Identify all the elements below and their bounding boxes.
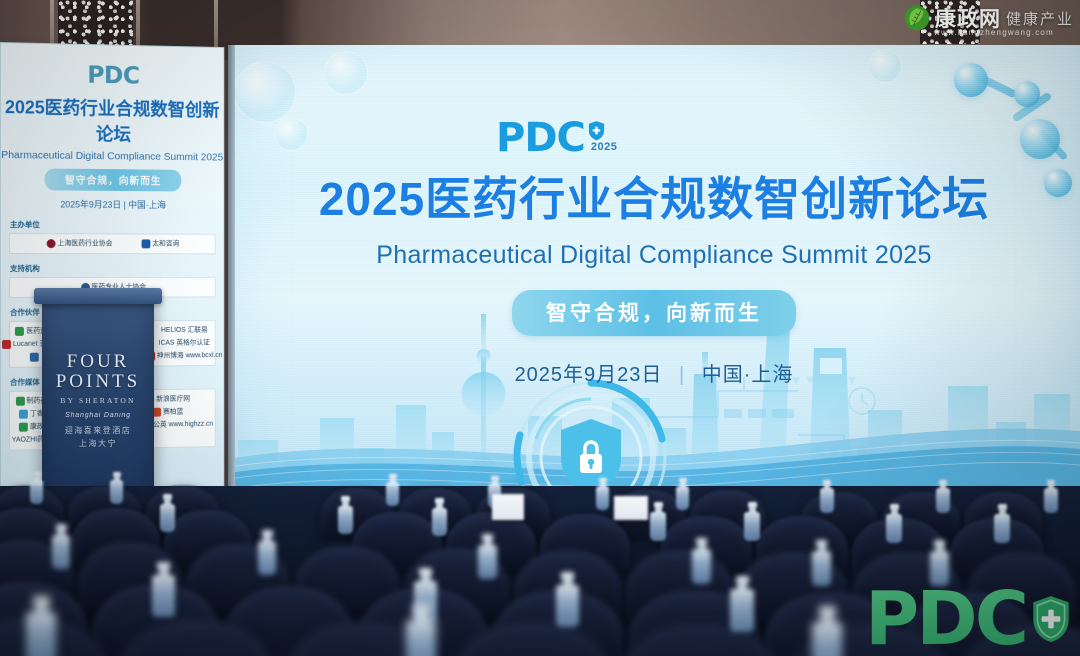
podium-brand-line1: FOUR <box>42 352 154 372</box>
bottle-body <box>596 486 609 510</box>
banner-pdc-logo: PDC <box>1 59 223 91</box>
date-separator: | <box>679 364 685 386</box>
sponsor-name: 赛柏蓝 <box>163 408 183 416</box>
bottle-cap <box>816 540 827 547</box>
bottle-body <box>258 541 276 575</box>
bubble-decoration <box>234 61 296 123</box>
water-bottle <box>676 478 689 510</box>
water-bottle <box>936 480 950 513</box>
bottle-body <box>650 512 666 541</box>
sponsor-mark <box>142 239 151 248</box>
bottle-body <box>820 488 834 513</box>
water-bottle <box>812 606 842 656</box>
banner-section-label: 支持机构 <box>10 263 223 274</box>
bottle-cap <box>561 572 574 580</box>
bubble-decoration <box>324 51 368 95</box>
sponsor-name: 新浪医疗网 <box>156 395 190 403</box>
bottle-body <box>338 506 353 534</box>
sponsor-logo: 神州博海 www.bcxl.cn <box>146 351 222 361</box>
banner-section-label: 主办单位 <box>10 219 223 231</box>
water-bottle <box>30 472 43 504</box>
summit-date-location: 2025年9月23日 | 中国·上海 <box>228 358 1080 387</box>
bottle-cap <box>736 576 749 584</box>
organizer-logo-box: 上海医药行业协会 太和咨询 <box>9 233 216 254</box>
podium-brand-line3: BY SHERATON <box>42 396 154 405</box>
bubble-decoration <box>274 117 308 151</box>
bottom-watermark: PDC <box>865 576 1072 656</box>
bottle-body <box>886 514 902 543</box>
bottle-body <box>730 589 754 632</box>
bottle-body <box>692 549 711 584</box>
podium-brand-cn1: 迎海喜来登酒店 <box>42 425 154 436</box>
bottle-body <box>994 514 1010 543</box>
bottle-body <box>406 620 436 656</box>
screen-headline-block: 2025医药行业合规数智创新论坛 Pharmaceutical Digital … <box>228 163 1080 387</box>
sponsor-name: 神州博海 www.bcxl.cn <box>157 352 223 360</box>
bottle-body <box>110 480 123 504</box>
banner-pdc-wordmark: PDC <box>87 61 139 90</box>
water-bottle <box>886 504 902 543</box>
water-bottle <box>258 530 276 575</box>
bottle-cap <box>56 524 67 531</box>
watermark-url: www.kangzhengwang.com <box>934 28 1054 37</box>
water-bottle <box>744 502 760 541</box>
water-bottle <box>1044 480 1058 513</box>
bottle-body <box>936 488 950 513</box>
bottle-cap <box>934 540 945 547</box>
sponsor-name: HELIOS 汇联易 <box>161 326 208 334</box>
shield-cross-icon <box>588 120 605 141</box>
sponsor-logo: 上海医药行业协会 <box>47 239 113 248</box>
wall-trim <box>214 0 218 52</box>
bottle-body <box>812 622 842 656</box>
sponsor-mark <box>15 327 24 336</box>
water-bottle <box>338 496 353 534</box>
pdc-logo: PDC 2025 <box>496 119 617 157</box>
bottle-body <box>812 551 831 586</box>
bottle-body <box>30 480 43 504</box>
bottle-cap <box>262 530 273 537</box>
podium-top-surface <box>34 288 162 304</box>
water-bottle <box>478 534 497 579</box>
top-watermark: 康政网 健康产业 www.kangzhengwang.com <box>904 3 1074 33</box>
speaker-podium: FOUR POINTS BY SHERATON Shanghai Daning … <box>42 300 154 510</box>
water-bottle <box>52 524 70 569</box>
sponsor-name: ICAS 英格尔认证 <box>159 339 210 347</box>
podium-brand-cn2: 上海大宁 <box>42 438 154 449</box>
water-bottle <box>432 498 447 536</box>
bottle-body <box>52 535 70 569</box>
bottle-body <box>160 504 175 532</box>
sponsor-mark <box>47 239 56 248</box>
bubble-decoration <box>868 49 902 83</box>
pdc-year-label: 2025 <box>591 141 617 153</box>
leaf-logo-icon <box>904 5 930 31</box>
water-bottle <box>386 474 399 506</box>
molecule-icon <box>1014 81 1040 107</box>
water-bottle <box>650 502 666 541</box>
sponsor-mark <box>2 340 11 349</box>
water-bottle <box>160 494 175 532</box>
banner-tagline: 智守合规，向新而生 <box>45 168 182 191</box>
water-bottle <box>152 562 175 617</box>
sponsor-name: 太和咨询 <box>152 240 179 248</box>
seat-placard <box>492 494 524 520</box>
bottle-cap <box>157 562 170 570</box>
shield-cross-icon <box>1030 594 1072 644</box>
sponsor-mark <box>19 423 28 432</box>
water-bottle <box>406 604 436 656</box>
sponsor-logo: HELIOS 汇联易 <box>146 326 222 334</box>
summit-title-en: Pharmaceutical Digital Compliance Summit… <box>228 241 1080 270</box>
water-bottle <box>110 472 123 504</box>
bottle-body <box>152 575 175 617</box>
bottle-cap <box>419 568 432 576</box>
bottle-body <box>744 512 760 541</box>
bottle-cap <box>819 606 836 616</box>
molecule-icon <box>1020 119 1060 159</box>
sponsor-mark <box>19 410 28 419</box>
sponsor-logo: 太和咨询 <box>142 239 180 248</box>
bottle-cap <box>696 538 707 545</box>
watermark-tail-cn: 健康产业 <box>1006 8 1074 29</box>
bottle-body <box>432 508 447 536</box>
pdc-watermark-wordmark: PDC <box>865 576 1026 656</box>
water-bottle <box>994 504 1010 543</box>
bottle-cap <box>482 534 493 541</box>
summit-date: 2025年9月23日 <box>515 364 663 386</box>
banner-title-en: Pharmaceutical Digital Compliance Summit… <box>1 149 223 163</box>
screen-left-edge <box>228 45 235 505</box>
summit-location: 中国·上海 <box>702 364 794 386</box>
banner-title-cn: 2025医药行业合规数智创新论坛 <box>1 93 223 148</box>
molecule-icon <box>954 63 988 97</box>
water-bottle <box>730 576 754 632</box>
podium-brand-line4: Shanghai Daning <box>42 412 154 419</box>
pdc-wordmark: PDC <box>496 119 585 157</box>
bottle-body <box>478 545 497 579</box>
bottle-body <box>386 482 399 506</box>
water-bottle <box>812 540 831 586</box>
summit-tagline: 智守合规，向新而生 <box>512 290 796 336</box>
podium-brand-line2: POINTS <box>42 372 154 392</box>
bottle-cap <box>413 604 430 614</box>
main-led-screen: PDC 2025 2025医药行业合规数智创新论坛 Pharmaceutical… <box>228 45 1080 505</box>
bottle-body <box>676 486 689 510</box>
water-bottle <box>26 596 56 656</box>
summit-title-cn: 2025医药行业合规数智创新论坛 <box>228 163 1080 229</box>
banner-date-line: 2025年9月23日 | 中国·上海 <box>1 197 223 211</box>
bottle-cap <box>33 596 50 606</box>
decorative-wall-panel <box>58 0 133 48</box>
seat-placard <box>614 496 648 520</box>
water-bottle <box>556 572 579 627</box>
sponsor-name: 上海医药行业协会 <box>58 240 113 248</box>
conference-photo: PDC 2025 2025医药行业合规数智创新论坛 Pharmaceutical… <box>0 0 1080 656</box>
water-bottle <box>596 478 609 510</box>
sponsor-logo: ICAS 英格尔认证 <box>146 339 222 347</box>
water-bottle <box>820 480 834 513</box>
sponsor-mark <box>30 353 39 362</box>
bottle-body <box>26 612 56 656</box>
bottle-body <box>1044 488 1058 513</box>
water-bottle <box>692 538 711 584</box>
sponsor-mark <box>16 397 25 406</box>
bottle-body <box>556 585 579 627</box>
podium-brand-mark: FOUR POINTS BY SHERATON Shanghai Daning … <box>42 352 154 449</box>
